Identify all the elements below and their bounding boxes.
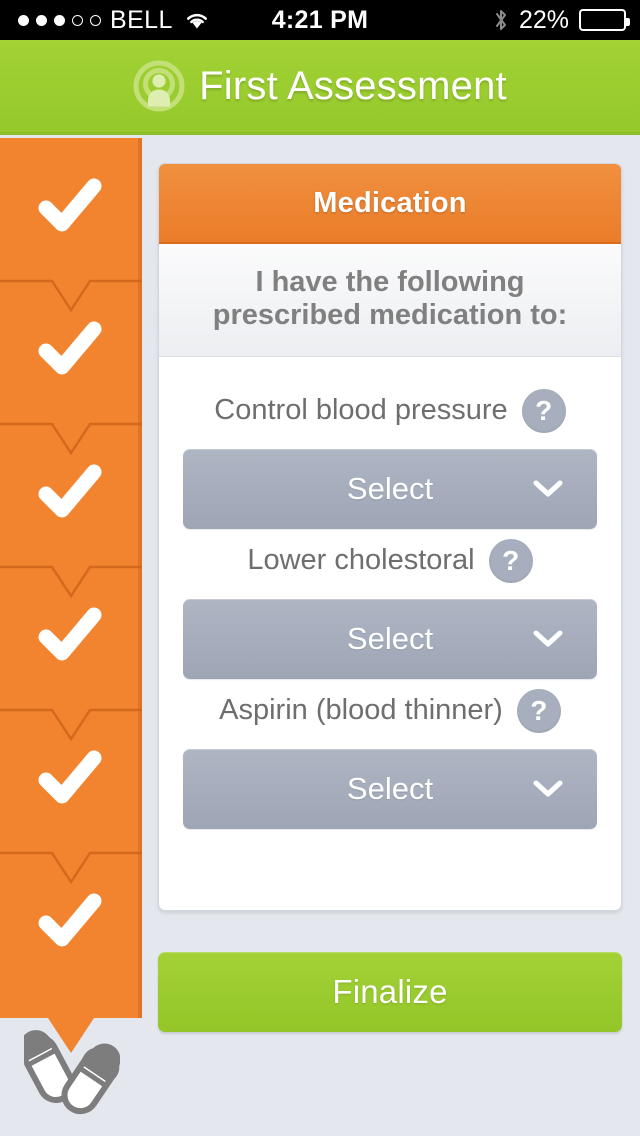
card-body: Control blood pressure ? Select Lower ch… [159,357,621,845]
battery-percent-label: 22% [519,6,569,35]
question-row: Aspirin (blood thinner) ? Select [159,685,621,829]
card-subtitle: I have the following prescribed medicati… [185,266,595,332]
question-row: Lower cholestoral ? Select [159,535,621,679]
chevron-down-icon [533,630,563,648]
app-header: First Assessment [0,40,640,135]
pills-icon [24,1030,120,1116]
select-control-blood-pressure[interactable]: Select [183,449,597,529]
question-mark-icon[interactable]: ? [517,689,561,733]
question-mark-icon[interactable]: ? [489,539,533,583]
app-screen: BELL 4:21 PM 22% [0,0,640,1136]
card-header: Medication [159,164,621,244]
person-target-logo-icon [133,60,185,112]
finalize-button[interactable]: Finalize [158,952,622,1032]
question-mark-icon[interactable]: ? [522,389,566,433]
question-label-wrap: Aspirin (blood thinner) ? [159,685,621,737]
question-label-wrap: Control blood pressure ? [159,385,621,437]
page-title: First Assessment [199,64,507,109]
select-value: Select [347,471,433,507]
card-subtitle-band: I have the following prescribed medicati… [159,244,621,357]
question-row: Control blood pressure ? Select [159,385,621,529]
card-title: Medication [313,187,466,220]
select-aspirin-blood-thinner[interactable]: Select [183,749,597,829]
medication-card: Medication I have the following prescrib… [158,163,622,911]
select-value: Select [347,621,433,657]
status-bar-right: 22% [493,6,626,35]
progress-sidebar [0,138,142,1058]
battery-icon [579,9,626,31]
question-label: Control blood pressure [214,394,507,427]
status-bar: BELL 4:21 PM 22% [0,0,640,40]
select-lower-cholestoral[interactable]: Select [183,599,597,679]
question-label: Lower cholestoral [247,544,474,577]
chevron-down-icon [533,780,563,798]
chevron-down-icon [533,480,563,498]
select-value: Select [347,771,433,807]
bluetooth-icon [493,8,509,32]
question-label-wrap: Lower cholestoral ? [159,535,621,587]
question-label: Aspirin (blood thinner) [219,694,503,727]
